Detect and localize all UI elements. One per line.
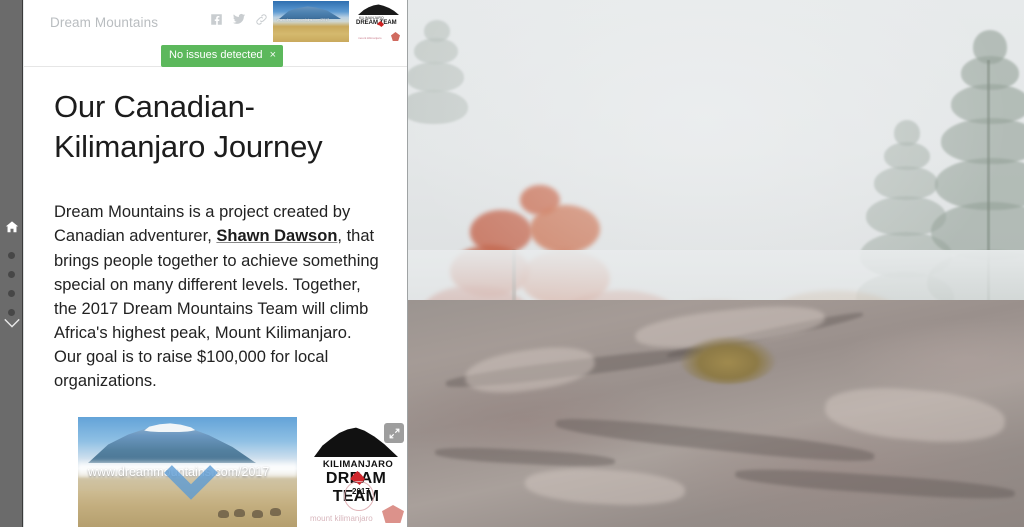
status-badge[interactable]: No issues detected × (161, 45, 283, 67)
logo-footer: mount kilimanjaro (310, 514, 373, 523)
chevron-down-overlay-icon (162, 461, 220, 501)
nav-dot-4[interactable] (8, 309, 15, 316)
article: Our Canadian-Kilimanjaro Journey Dream M… (24, 67, 407, 393)
twitter-icon[interactable] (232, 13, 246, 26)
left-rail[interactable] (0, 0, 23, 527)
logo-ring (344, 481, 374, 511)
close-icon[interactable]: × (270, 50, 276, 61)
logo-line1: KILIMANJARO (316, 459, 400, 470)
elephant-silhouette (270, 508, 281, 516)
facebook-icon[interactable] (210, 13, 223, 26)
article-figures: www.dreammountains.com/2017 KILIMANJARO … (78, 417, 408, 527)
logo-year: 2017 (352, 487, 370, 496)
nav-dot-2[interactable] (8, 271, 15, 278)
header-thumb-kilimanjaro-photo[interactable]: www.dreammountains.com/2017 (273, 1, 349, 42)
elephant-silhouette (218, 510, 229, 518)
elephant-silhouette (234, 509, 245, 517)
reader-panel: Dream Mountains (24, 0, 408, 527)
site-title: Dream Mountains (50, 15, 158, 30)
elephant-silhouette (252, 510, 263, 518)
link-icon[interactable] (255, 13, 268, 26)
figure-dreamteam-logo[interactable]: KILIMANJARO DREAM TEAM 2017 mount kilima… (300, 417, 408, 527)
page-title: Our Canadian-Kilimanjaro Journey (54, 87, 381, 166)
logo-corner-badge (391, 32, 400, 41)
share-icons (210, 13, 268, 26)
chevron-down-icon[interactable] (3, 316, 21, 332)
foliage-cluster (530, 205, 600, 253)
figure-kilimanjaro-photo[interactable]: www.dreammountains.com/2017 (78, 417, 297, 527)
shawn-dawson-link[interactable]: Shawn Dawson (216, 227, 337, 245)
header-thumbnails: www.dreammountains.com/2017 KILIMANJARO … (273, 1, 405, 42)
rock-slab (405, 300, 1024, 527)
nav-dot-3[interactable] (8, 290, 15, 297)
snow-cap (140, 423, 198, 432)
nav-dot-1[interactable] (8, 252, 15, 259)
mountain-shape (279, 5, 341, 19)
logo-footer: mount kilimanjaro (358, 36, 382, 40)
grass-tuft (680, 336, 776, 384)
logo-mountain-shape (358, 4, 399, 15)
logo-line2: DREAM TEAM (356, 20, 397, 26)
status-badge-label: No issues detected (169, 50, 263, 61)
header-thumb-dreamteam-logo[interactable]: KILIMANJARO DREAM TEAM mount kilimanjaro (352, 1, 405, 42)
logo-corner-badge (382, 505, 404, 523)
expand-icon[interactable] (384, 423, 404, 443)
header-thumb-url: www.dreammountains.com/2017 (277, 18, 329, 22)
home-icon[interactable] (5, 220, 19, 234)
conifer-left (406, 20, 476, 210)
article-body: Dream Mountains is a project created by … (54, 200, 381, 393)
article-body-part2: , that brings people together to achieve… (54, 227, 379, 389)
screen: Dream Mountains (0, 0, 1024, 527)
